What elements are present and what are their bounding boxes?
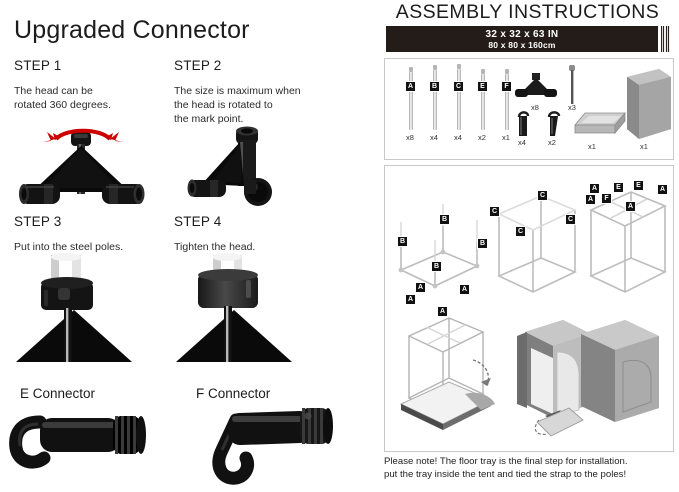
step-3-heading: STEP 3 <box>14 214 174 229</box>
stage3-label-a3: A <box>585 194 596 205</box>
e-connector-image <box>8 404 158 484</box>
rotated-connector-art <box>174 124 309 212</box>
rotation-arrow-icon <box>38 126 124 142</box>
parts-list-box: A x8 B x4 C x4 E x2 <box>384 58 674 160</box>
assembly-title: ASSEMBLY INSTRUCTIONS <box>376 1 679 24</box>
stage3-label-e1: E <box>613 182 624 193</box>
step-4-block: STEP 4 Tighten the head. <box>174 214 334 254</box>
part-qty-a: x8 <box>401 133 419 142</box>
part-qty-e: x2 <box>473 133 491 142</box>
assembly-diagram-box: B B B B A A A A C C C C <box>384 165 674 452</box>
stage3-label-e2: E <box>633 180 644 191</box>
step-3-pole-image <box>14 252 134 367</box>
stage3-label-a2: A <box>657 184 668 195</box>
e-connector-art <box>8 404 158 484</box>
size-imperial: 32 x 32 x 63 IN <box>386 29 658 40</box>
stage3-label-f1: F <box>601 193 612 204</box>
hook-long-icon <box>515 109 535 139</box>
size-metric: 80 x 80 x 160cm <box>386 40 658 50</box>
stage3-label-a4: A <box>625 201 636 212</box>
step-2-heading: STEP 2 <box>174 58 349 73</box>
page-title: Upgraded Connector <box>14 16 250 45</box>
stage2-label-c1: C <box>489 206 500 217</box>
stage2-label-c4: C <box>565 214 576 225</box>
stage2-label-c2: C <box>515 226 526 237</box>
assembly-instructions-panel: ASSEMBLY INSTRUCTIONS 32 x 32 x 63 IN 80… <box>376 0 679 492</box>
part-tag-e: E <box>477 81 488 92</box>
strap-rod-icon <box>565 65 579 105</box>
part-tag-b: B <box>429 81 440 92</box>
stage1-label-b1: B <box>397 236 408 247</box>
part-qty-hook-short: x2 <box>543 138 561 147</box>
stage1-label-a2: A <box>405 294 416 305</box>
part-qty-tent-cover: x1 <box>635 142 653 151</box>
part-tag-c: C <box>453 81 464 92</box>
part-tag-a: A <box>405 81 416 92</box>
part-tag-f: F <box>501 81 512 92</box>
barcode-strip <box>661 26 670 52</box>
step-4-heading: STEP 4 <box>174 214 334 229</box>
f-connector-art <box>188 404 338 488</box>
stage1-label-a3: A <box>459 284 470 295</box>
hook-short-icon <box>545 109 567 139</box>
tent-cover-icon <box>615 67 673 143</box>
f-connector-image <box>188 404 338 488</box>
stage3-label-a1: A <box>589 183 600 194</box>
step-3-block: STEP 3 Put into the steel poles. <box>14 214 174 254</box>
step-2-connector-image <box>174 124 309 212</box>
part-qty-b: x4 <box>425 133 443 142</box>
assembly-stage-4-tray <box>395 316 505 441</box>
part-qty-hook-long: x4 <box>513 138 531 147</box>
step-2-description: The size is maximum when the head is rot… <box>174 84 349 126</box>
stage1-label-b4: B <box>431 261 442 272</box>
stage2-label-c3: C <box>537 190 548 201</box>
pole-collar-tight-art <box>174 252 294 367</box>
corner-connector-icon <box>515 73 557 99</box>
part-qty-c: x4 <box>449 133 467 142</box>
size-banner: 32 x 32 x 63 IN 80 x 80 x 160cm <box>386 26 658 52</box>
assembly-stage-6-finished <box>571 318 667 436</box>
e-connector-label: E Connector <box>20 386 95 401</box>
f-connector-label: F Connector <box>196 386 270 401</box>
step-2-block: STEP 2 The size is maximum when the head… <box>174 58 349 126</box>
stage1-label-b2: B <box>439 214 450 225</box>
upgraded-connector-panel: Upgraded Connector STEP 1 The head can b… <box>0 0 372 492</box>
instruction-sheet: Upgraded Connector STEP 1 The head can b… <box>0 0 679 492</box>
pole-collar-loose-art <box>14 252 134 367</box>
stage1-label-a1: A <box>415 282 426 293</box>
step-1-description: The head can be rotated 360 degrees. <box>14 84 174 112</box>
stage1-label-b3: B <box>477 238 488 249</box>
assembly-stage-3-top <box>583 180 671 304</box>
step-1-block: STEP 1 The head can be rotated 360 degre… <box>14 58 174 112</box>
step-1-connector-image <box>14 124 149 212</box>
step-4-pole-image <box>174 252 294 367</box>
part-qty-floor-tray: x1 <box>583 142 601 151</box>
installation-note: Please note! The floor tray is the final… <box>384 456 676 481</box>
step-1-heading: STEP 1 <box>14 58 174 73</box>
